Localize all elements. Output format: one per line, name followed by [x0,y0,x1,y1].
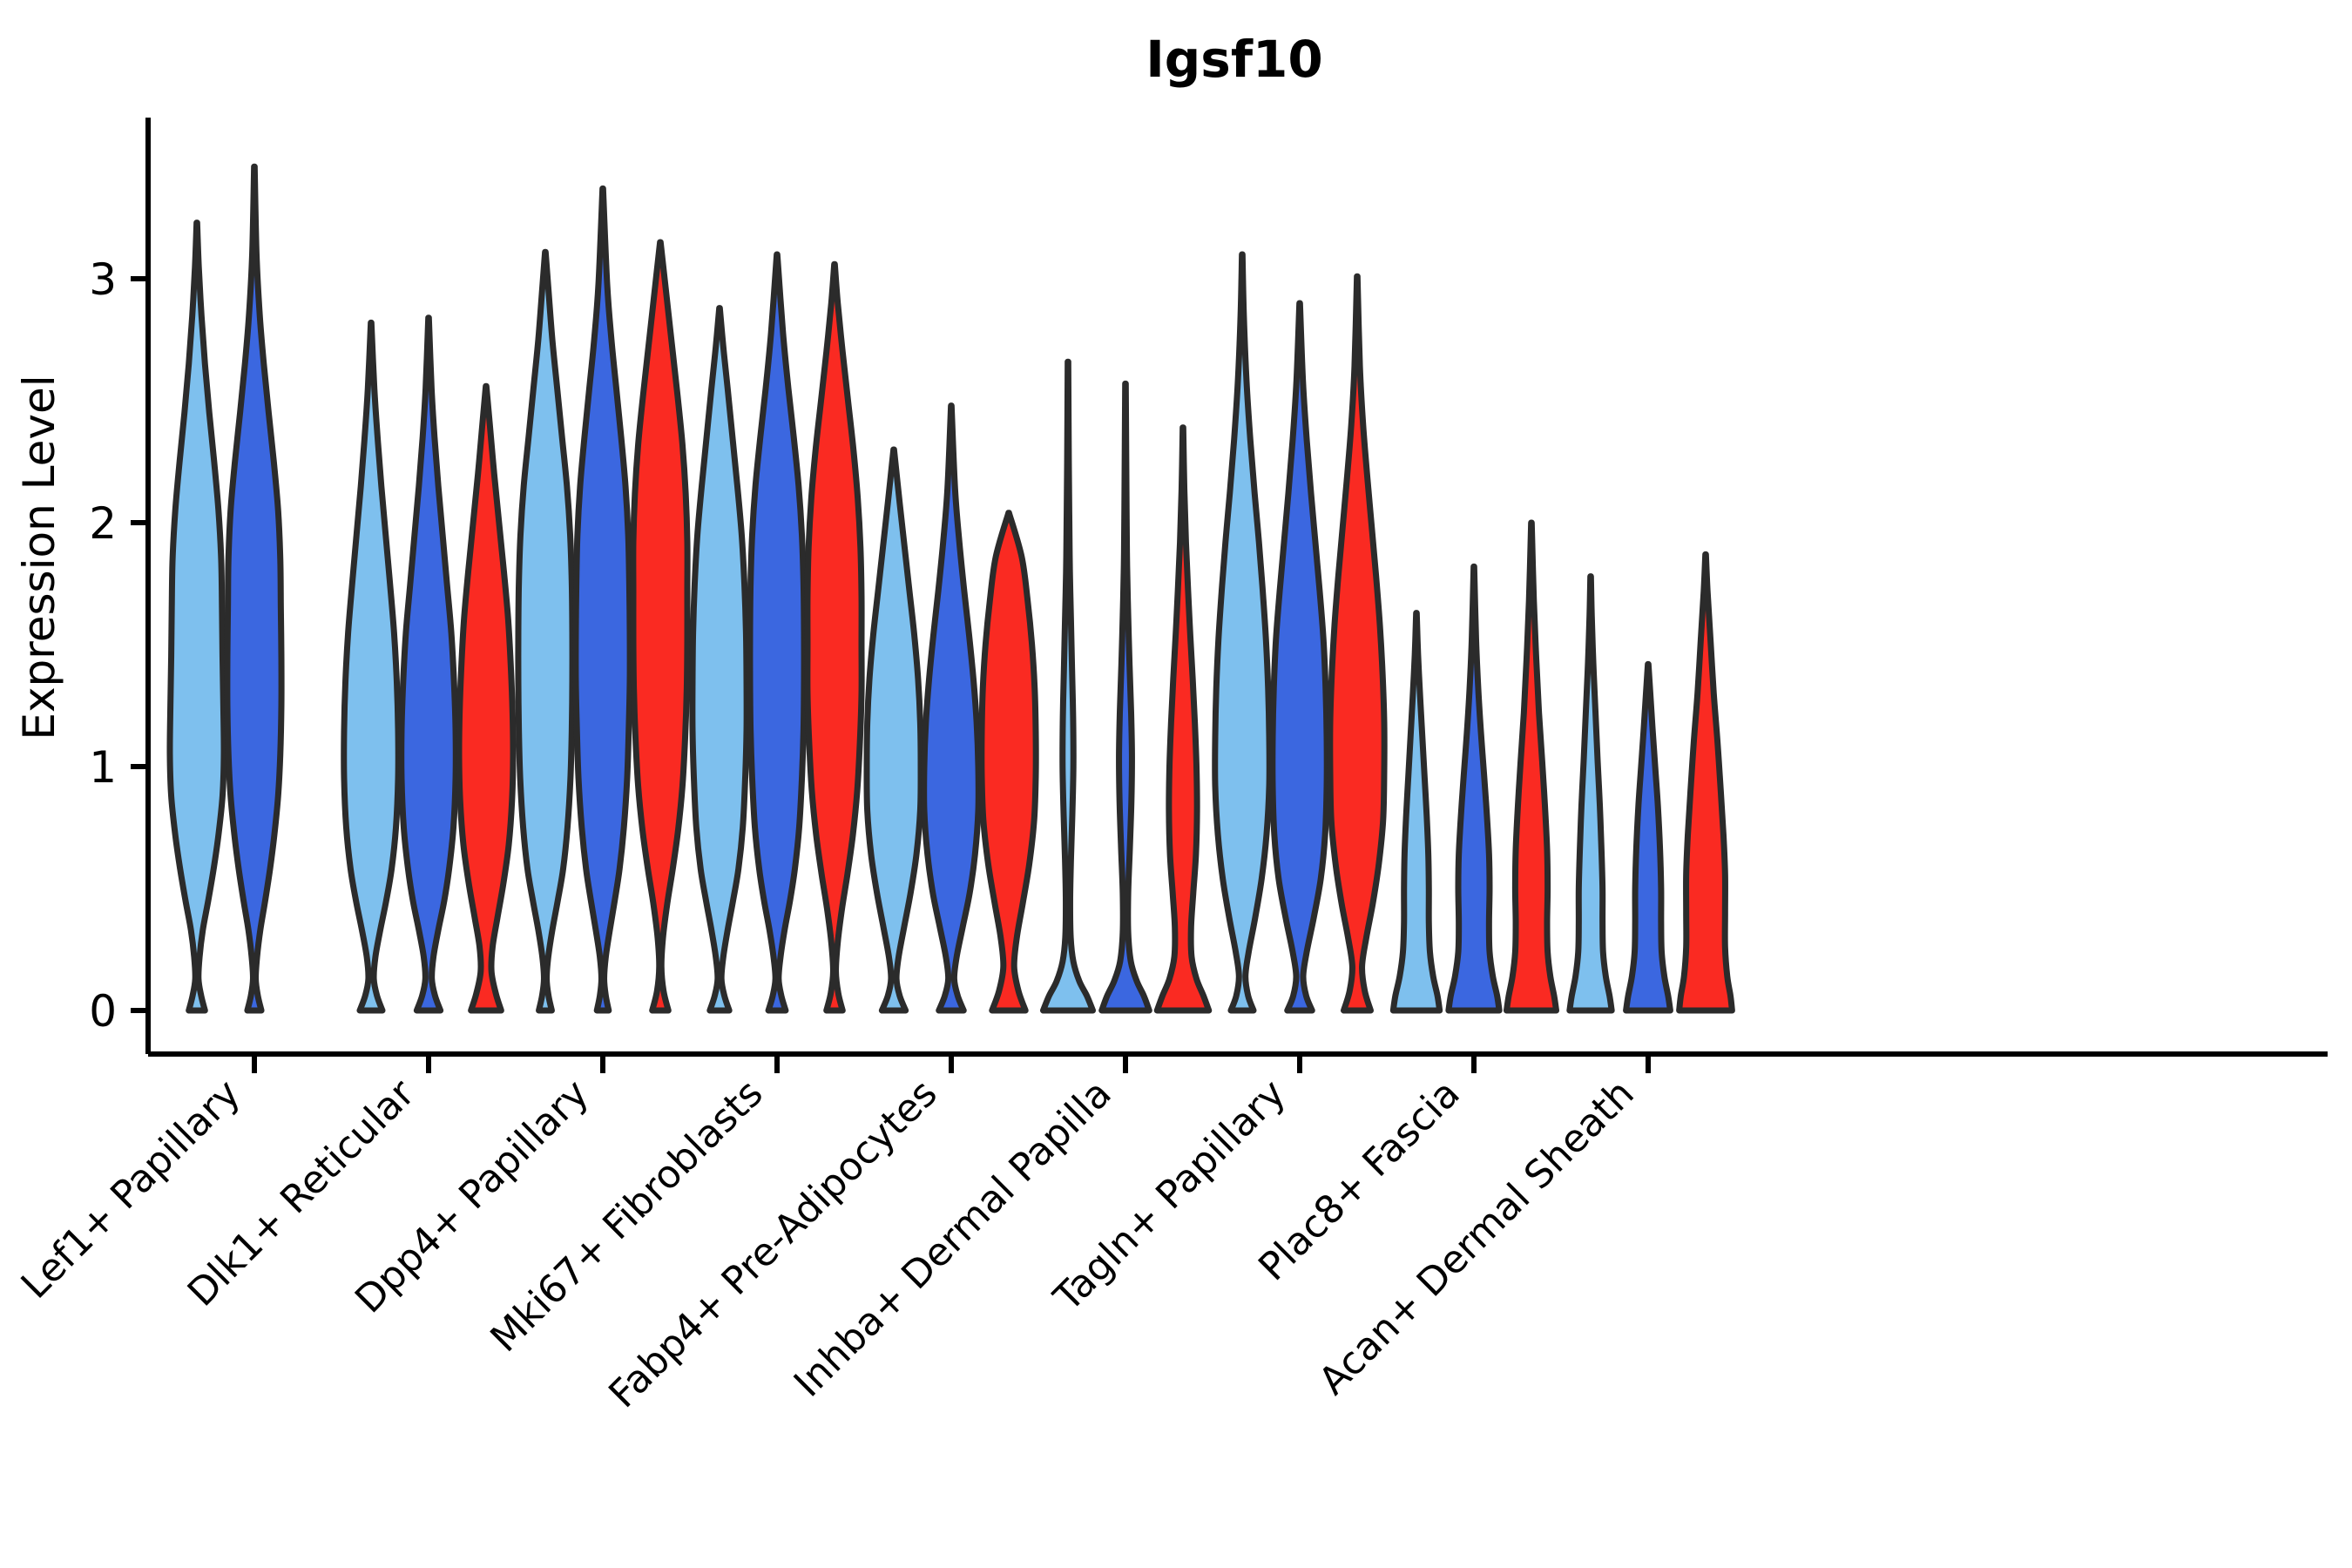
y-tick-label: 0 [89,986,117,1037]
y-tick-label: 2 [89,498,117,549]
violin-plot-figure: Igsf10 0123 Lef1+ PapillaryDlk1+ Reticul… [0,0,2352,1568]
violin-group [518,188,687,1010]
y-tick-label: 3 [89,254,117,305]
violin-group [1215,254,1384,1010]
violin-group [693,254,862,1010]
page-title: Igsf10 [1146,30,1323,89]
chart-canvas: Igsf10 0123 Lef1+ PapillaryDlk1+ Reticul… [0,0,2352,1568]
y-axis-label: Expression Level [14,375,64,740]
violin-group [344,318,513,1010]
violin-group [1043,362,1208,1010]
y-tick-label: 1 [89,742,117,793]
